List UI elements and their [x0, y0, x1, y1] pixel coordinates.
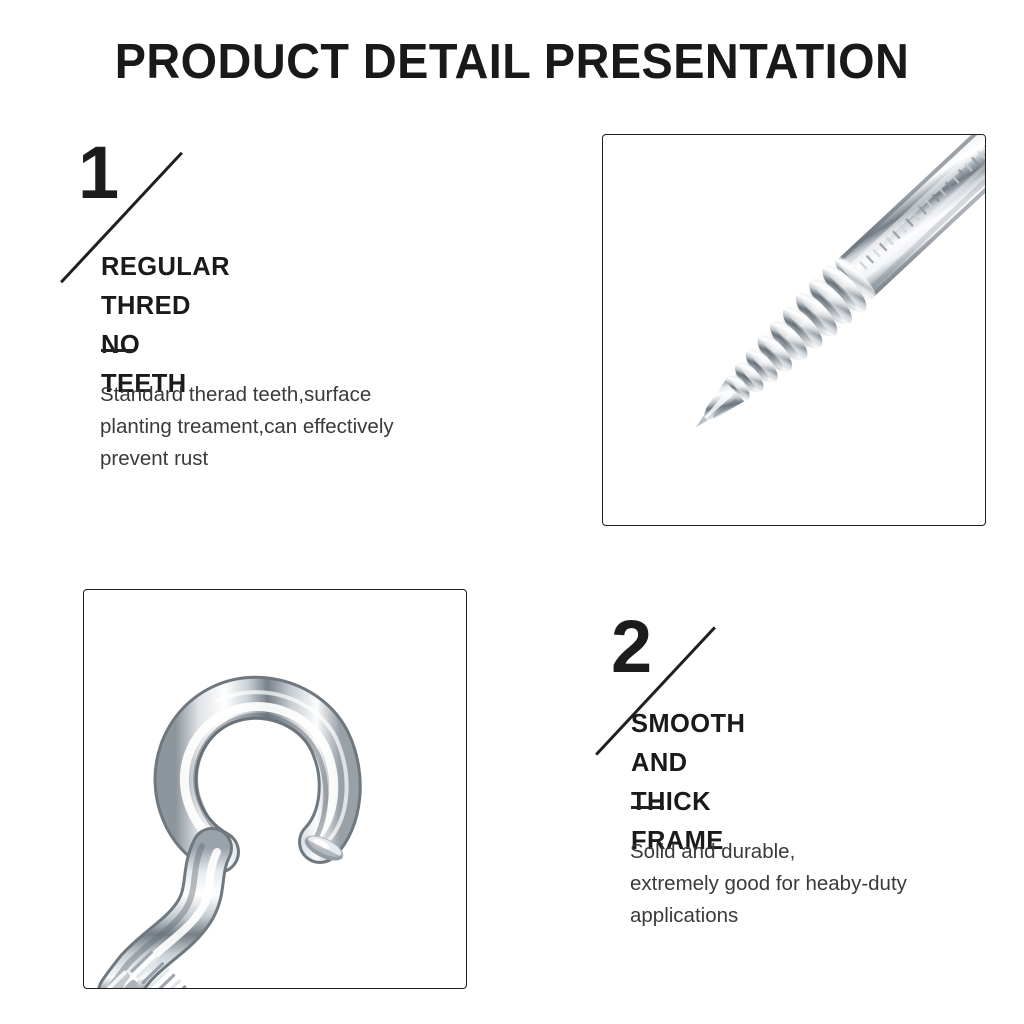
hook-image — [84, 590, 467, 989]
photo-frame-hook — [83, 589, 467, 989]
photo-frame-screw-thread — [602, 134, 986, 526]
feature-number-2: 2 — [611, 610, 651, 684]
screw-thread-image — [603, 135, 986, 526]
feature-body-1: Standard therad teeth,surface planting t… — [100, 379, 500, 475]
feature-body-2: Solid and durable, extremely good for he… — [630, 836, 1010, 932]
page-title: PRODUCT DETAIL PRESENTATION — [23, 34, 1001, 90]
feature-number-1: 1 — [78, 136, 118, 210]
feature-divider-1 — [101, 349, 134, 352]
feature-divider-2 — [631, 806, 664, 809]
